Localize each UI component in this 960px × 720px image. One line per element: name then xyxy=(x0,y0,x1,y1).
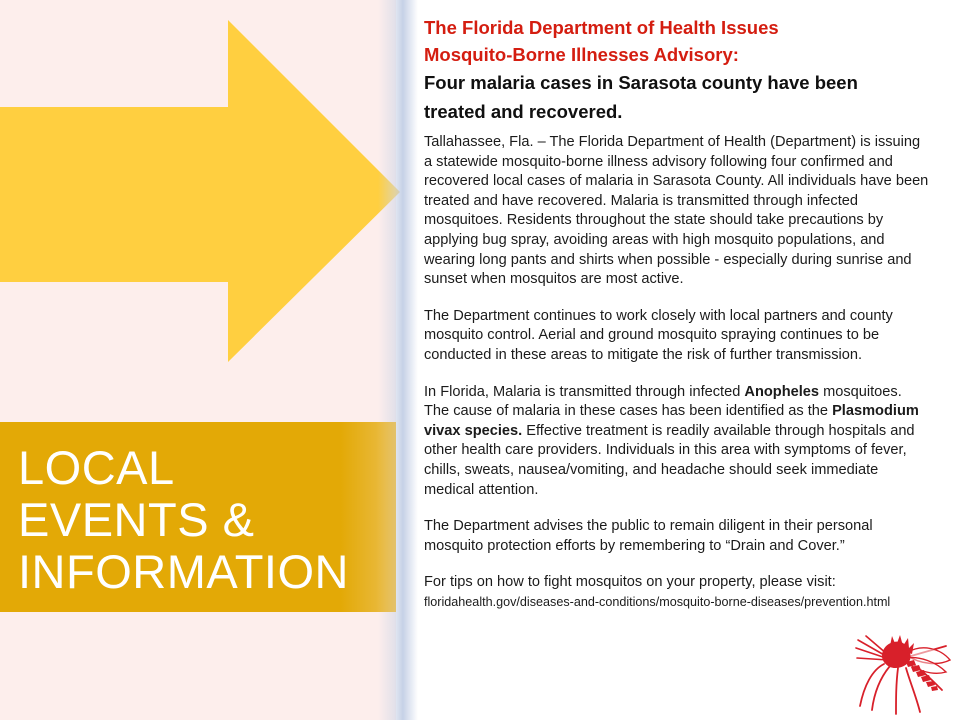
right-arrow-icon xyxy=(0,0,404,380)
headline-black-line-2: treated and recovered. xyxy=(424,98,930,126)
advisory-article: The Florida Department of Health Issues … xyxy=(424,14,930,714)
headline-red-line-1: The Florida Department of Health Issues xyxy=(424,14,930,41)
banner-line-3: INFORMATION xyxy=(18,546,396,598)
banner-line-2: EVENTS & xyxy=(18,494,396,546)
headline-black-line-1: Four malaria cases in Sarasota county ha… xyxy=(424,69,930,97)
paragraph-tips: For tips on how to fight mosquitos on yo… xyxy=(424,573,930,593)
slide-canvas: LOCAL EVENTS & INFORMATION The Florida D… xyxy=(0,0,960,720)
prevention-url[interactable]: floridahealth.gov/diseases-and-condition… xyxy=(424,594,930,610)
headline-red-line-2: Mosquito-Borne Illnesses Advisory: xyxy=(424,41,930,68)
paragraph-intro: Tallahassee, Fla. – The Florida Departme… xyxy=(424,133,930,290)
local-events-banner: LOCAL EVENTS & INFORMATION xyxy=(0,422,396,612)
anopheles-bold-term: Anopheles xyxy=(744,384,819,400)
paragraph-anopheles: In Florida, Malaria is transmitted throu… xyxy=(424,383,930,501)
paragraph-anopheles-part-1: In Florida, Malaria is transmitted throu… xyxy=(424,384,744,400)
panel-divider xyxy=(378,0,418,720)
paragraph-drain-and-cover: The Department advises the public to rem… xyxy=(424,517,930,556)
banner-line-1: LOCAL xyxy=(18,442,396,494)
paragraph-mosquito-control: The Department continues to work closely… xyxy=(424,307,930,366)
mosquito-icon xyxy=(846,634,958,720)
